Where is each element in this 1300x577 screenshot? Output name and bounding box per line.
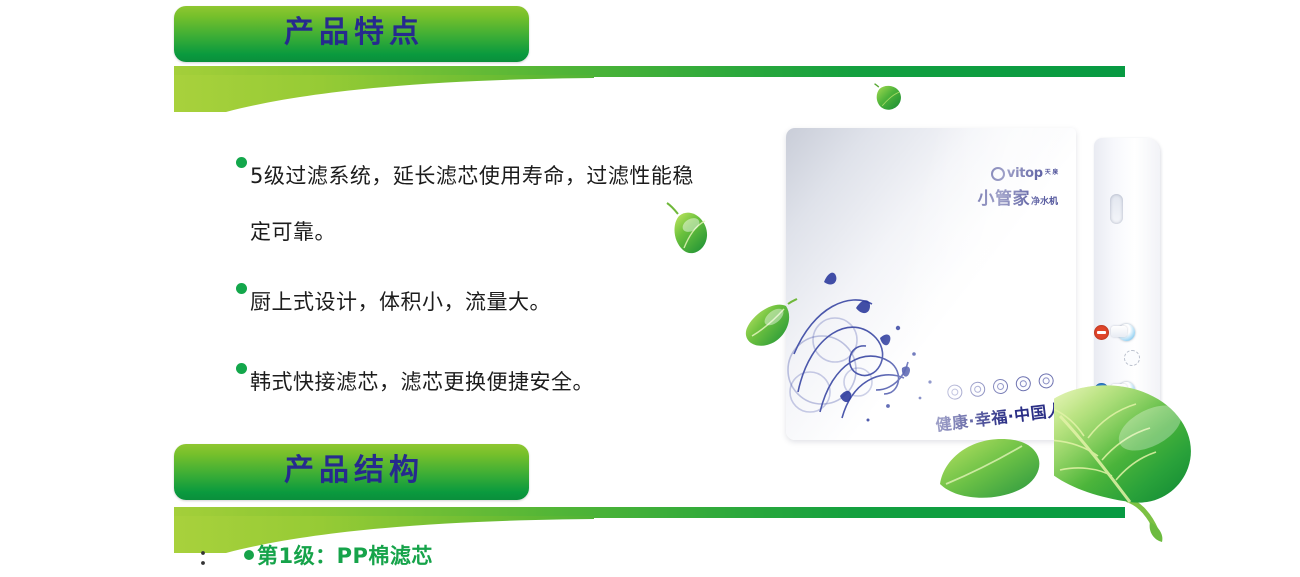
brand-chinese-lockup: 小管家 净水机 bbox=[977, 184, 1058, 209]
section-title-features: 产品特点 bbox=[279, 18, 424, 48]
product-feature-icon bbox=[946, 384, 963, 401]
section-banner-structure: 产品结构 bbox=[174, 444, 529, 500]
bullet-dot-icon bbox=[236, 283, 247, 294]
bullet-dot-icon bbox=[236, 157, 247, 168]
brand-latin-text: vitop bbox=[1007, 166, 1043, 181]
brand-logo: vitop 天 泉 bbox=[977, 166, 1058, 181]
product-detail-page: 产品特点 5级过滤系统，延长滤芯使用寿命，过滤性能稳 定可靠。 bbox=[0, 0, 1300, 577]
feature-item: 韩式快接滤芯，滤芯更换便捷安全。 bbox=[236, 354, 776, 410]
product-side-slot bbox=[1110, 194, 1123, 224]
structure-stage-text: 第1级：PP棉滤芯 bbox=[257, 540, 433, 570]
feature-text: 厨上式设计，体积小，流量大。 bbox=[250, 274, 551, 330]
swirl-artwork bbox=[786, 242, 965, 432]
leaf-icon bbox=[664, 200, 724, 262]
brand-cn-sub: 净水机 bbox=[1031, 194, 1058, 209]
section-divider-top bbox=[174, 66, 1125, 114]
divider-wedge bbox=[174, 75, 594, 114]
product-feature-icon bbox=[992, 378, 1009, 395]
feature-text: 韩式快接滤芯，滤芯更换便捷安全。 bbox=[250, 354, 594, 410]
section-title-structure: 产品结构 bbox=[279, 456, 424, 486]
product-feature-icon bbox=[1038, 373, 1055, 390]
leaf-icon bbox=[738, 296, 798, 356]
port-stem bbox=[1111, 326, 1127, 337]
feature-bullet-list: 5级过滤系统，延长滤芯使用寿命，过滤性能稳 定可靠。 厨上式设计，体积小，流量大… bbox=[236, 148, 776, 434]
bullet-dot-icon bbox=[244, 550, 254, 560]
section-banner-features: 产品特点 bbox=[174, 6, 529, 62]
port-adjust-knob bbox=[1124, 350, 1140, 366]
product-front-panel: vitop 天 泉 小管家 净水机 健康·幸福·中国人 bbox=[786, 128, 1076, 440]
brand-cn-main: 小管家 bbox=[977, 184, 1030, 209]
product-brand-lockup: vitop 天 泉 小管家 净水机 bbox=[977, 166, 1058, 209]
product-feature-icon bbox=[969, 381, 986, 398]
bullet-dot-icon bbox=[236, 363, 247, 374]
feature-text: 5级过滤系统，延长滤芯使用寿命，过滤性能稳 定可靠。 bbox=[250, 148, 694, 260]
structure-stage-line: ： 第1级：PP棉滤芯 bbox=[198, 540, 433, 570]
leaf-icon bbox=[930, 418, 1050, 498]
leaf-icon bbox=[872, 82, 906, 116]
brand-ring-icon bbox=[991, 167, 1005, 181]
feature-item: 厨上式设计，体积小，流量大。 bbox=[236, 274, 776, 330]
brand-superscript: 天 泉 bbox=[1045, 170, 1058, 177]
product-feature-icon bbox=[1015, 375, 1032, 392]
port-hot-red bbox=[1094, 324, 1135, 341]
structure-colon: ： bbox=[198, 541, 244, 570]
port-badge-red bbox=[1094, 325, 1109, 340]
